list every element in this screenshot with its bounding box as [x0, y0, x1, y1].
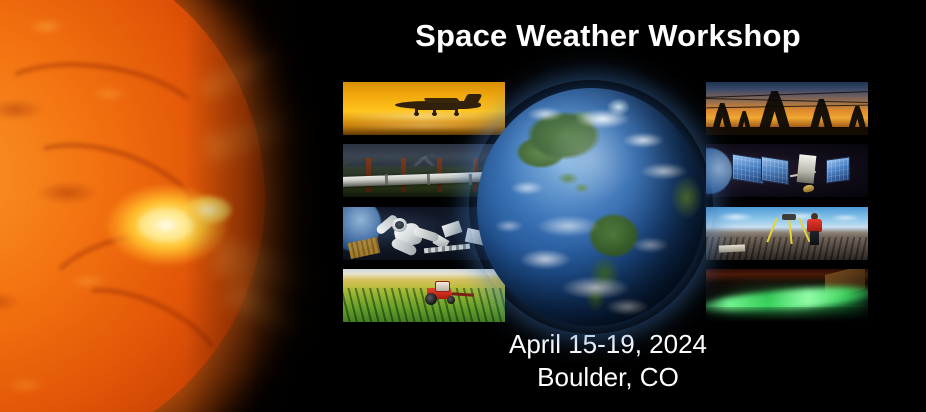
satellite-bus — [797, 154, 817, 184]
sun-fade-overlay — [0, 0, 330, 412]
ground-silhouette — [706, 127, 868, 135]
solar-array-panel — [761, 156, 789, 185]
astronaut-figure — [379, 216, 443, 254]
page-title: Space Weather Workshop — [343, 18, 873, 54]
airplane-silhouette-icon — [395, 96, 483, 112]
solar-array-panel — [732, 153, 764, 184]
collage-right-column — [706, 82, 868, 322]
night-earth — [706, 307, 868, 322]
collage-panel-satellite — [706, 144, 868, 197]
transmission-wire — [706, 98, 868, 103]
station-module — [442, 220, 463, 237]
satellite-antenna — [803, 183, 815, 192]
event-location: Boulder, CO — [343, 361, 873, 394]
collage-panel-gps-surveying — [706, 207, 868, 260]
surveyor-figure — [806, 213, 824, 245]
earth-globe — [477, 88, 705, 326]
pipeline-seam — [385, 174, 388, 185]
solar-array-panel — [826, 156, 850, 183]
space-weather-workshop-banner: Space Weather Workshop — [0, 0, 926, 412]
transmission-wire — [706, 105, 868, 109]
event-details: April 15-19, 2024 Boulder, CO — [343, 328, 873, 395]
solar-disc-image — [0, 0, 330, 412]
earth-terminator-shading — [477, 88, 705, 326]
collage-panel-aurora — [706, 269, 868, 322]
pipeline-seam — [427, 174, 430, 185]
survey-tripod — [774, 218, 806, 248]
collage-panel-power-grid — [706, 82, 868, 135]
tractor-figure — [421, 283, 461, 305]
transmission-wire — [706, 91, 868, 98]
event-dates: April 15-19, 2024 — [343, 328, 873, 361]
